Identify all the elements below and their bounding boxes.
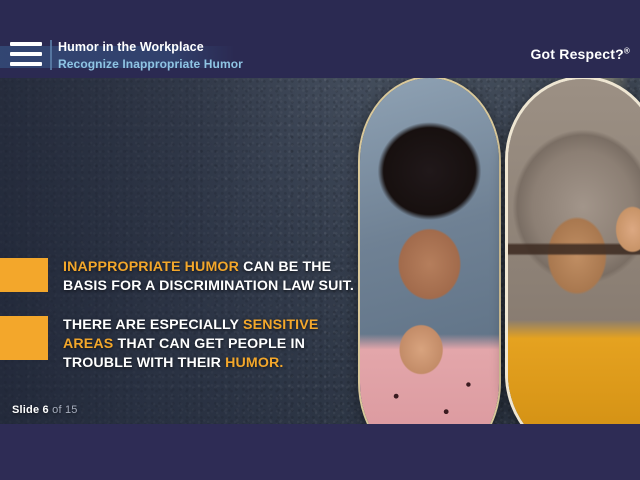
photo-upset-woman: [505, 78, 640, 424]
bullet-marker: [0, 316, 48, 360]
header-divider: [50, 40, 52, 70]
photo-laughing-woman-image: [360, 78, 499, 424]
bullet-text: INAPPROPRIATE HUMOR CAN BE THE BASIS FOR…: [63, 258, 355, 296]
brand-name: Got Respect?: [530, 46, 623, 62]
bullet-plain: THERE ARE ESPECIALLY: [63, 317, 243, 333]
bullet-text: THERE ARE ESPECIALLY SENSITIVE AREAS THA…: [63, 316, 355, 373]
slide-stage: INAPPROPRIATE HUMOR CAN BE THE BASIS FOR…: [0, 78, 640, 424]
bullet-item: INAPPROPRIATE HUMOR CAN BE THE BASIS FOR…: [0, 258, 355, 296]
hamburger-bar-3: [10, 62, 42, 66]
photo-laughing-woman: [358, 78, 501, 424]
bullet-highlight: INAPPROPRIATE HUMOR: [63, 259, 239, 275]
slide-counter-total-label: of 15: [52, 404, 77, 416]
header-titles: Humor in the Workplace Recognize Inappro…: [58, 39, 243, 72]
hamburger-menu-icon[interactable]: [10, 42, 42, 66]
player-header: Humor in the Workplace Recognize Inappro…: [0, 0, 640, 78]
slide-counter: Slide 6 of 15: [12, 403, 78, 417]
hamburger-bar-1: [10, 42, 42, 46]
bullet-marker: [0, 258, 48, 292]
course-title: Humor in the Workplace: [58, 39, 243, 55]
bullet-item: THERE ARE ESPECIALLY SENSITIVE AREAS THA…: [0, 316, 355, 373]
hamburger-bar-2: [10, 52, 42, 56]
brand-logo: Got Respect?®: [530, 46, 630, 62]
registered-trademark-icon: ®: [624, 46, 630, 55]
lesson-title: Recognize Inappropriate Humor: [58, 56, 243, 72]
photo-upset-woman-image: [508, 79, 640, 424]
slide-counter-current: Slide 6: [12, 404, 49, 416]
bullet-highlight: HUMOR.: [225, 355, 283, 371]
slide-player: Humor in the Workplace Recognize Inappro…: [0, 0, 640, 480]
player-bottom-panel: [0, 424, 640, 480]
